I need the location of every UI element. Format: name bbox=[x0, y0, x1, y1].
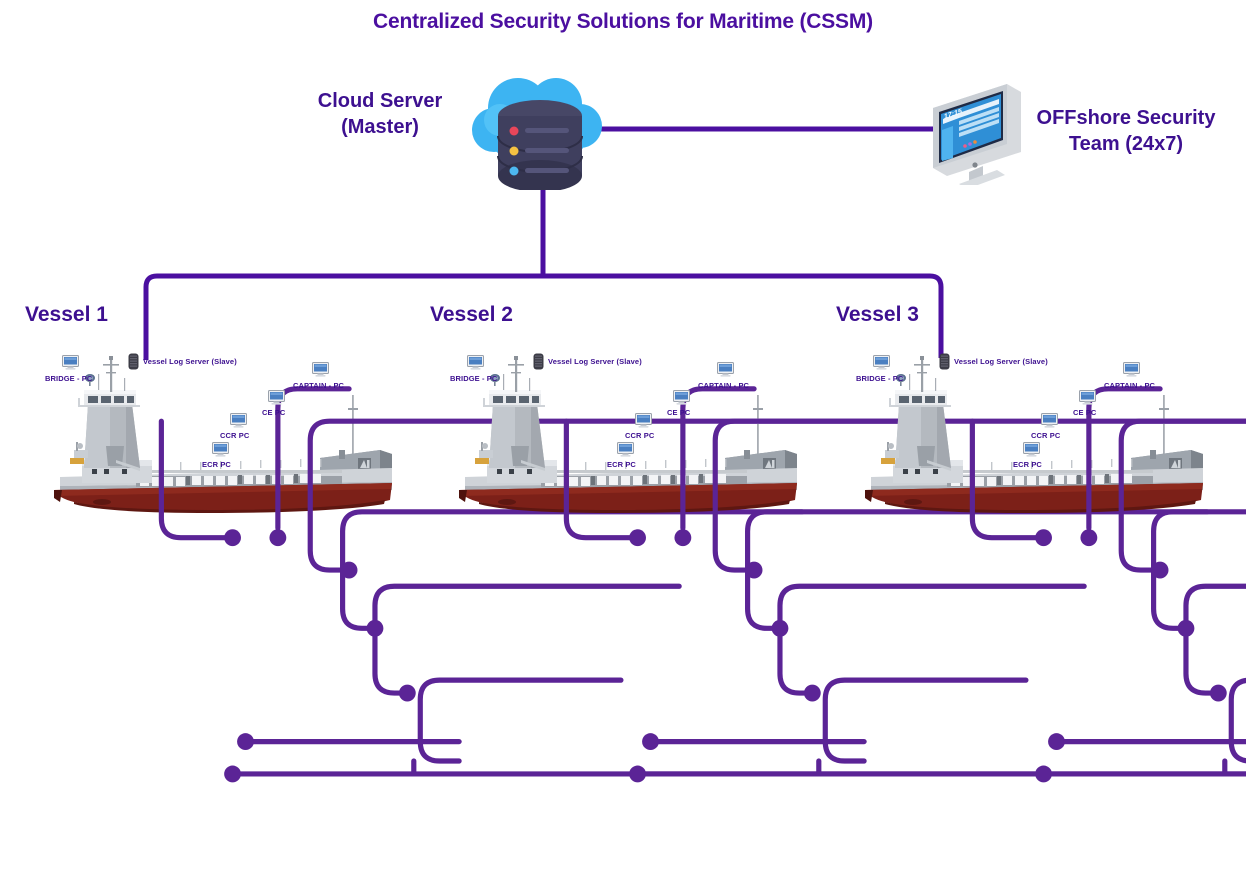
vessel-title-2: Vessel 2 bbox=[430, 303, 513, 327]
desktop-monitor-icon: 17:15 bbox=[925, 80, 1025, 185]
page-title: Centralized Security Solutions for Marit… bbox=[0, 10, 1246, 34]
pc-monitor-icon bbox=[467, 355, 484, 370]
cloud-server-label: Cloud Server (Master) bbox=[300, 89, 460, 140]
node-label-ce-pc: CE PC bbox=[262, 408, 285, 417]
vessel-title-3: Vessel 3 bbox=[836, 303, 919, 327]
diagram-canvas: Centralized Security Solutions for Marit… bbox=[0, 0, 1246, 534]
pc-monitor-icon bbox=[873, 355, 890, 370]
node-label-captain-pc: CAPTAIN - PC bbox=[1104, 381, 1155, 390]
node-label-ecr-pc: ECR PC bbox=[202, 460, 231, 469]
node-label-bridge-pc: BRIDGE - PC bbox=[856, 374, 903, 383]
rack-server-icon bbox=[939, 353, 950, 370]
node-label-ccr-pc: CCR PC bbox=[625, 431, 654, 440]
node-label-vessel-log-server: Vessel Log Server (Slave) bbox=[954, 357, 1048, 366]
pc-monitor-icon bbox=[617, 442, 634, 457]
pc-monitor-icon bbox=[673, 390, 690, 405]
pc-monitor-icon bbox=[212, 442, 229, 457]
vessel-title-1: Vessel 1 bbox=[25, 303, 108, 327]
pc-monitor-icon bbox=[717, 362, 734, 377]
pc-monitor-icon bbox=[312, 362, 329, 377]
vessel-group-3: BRIDGE - PC Vessel Log Server (Slave) CA… bbox=[851, 350, 1221, 515]
node-label-ce-pc: CE PC bbox=[667, 408, 690, 417]
pc-monitor-icon bbox=[1079, 390, 1096, 405]
node-label-ccr-pc: CCR PC bbox=[1031, 431, 1060, 440]
node-label-ce-pc: CE PC bbox=[1073, 408, 1096, 417]
node-label-vessel-log-server: Vessel Log Server (Slave) bbox=[143, 357, 237, 366]
vessel-group-2: BRIDGE - PC Vessel Log Server (Slave) CA… bbox=[445, 350, 815, 515]
vessel-group-1: BRIDGE - PC Vessel Log Server (Slave) CA… bbox=[40, 350, 410, 515]
pc-monitor-icon bbox=[230, 413, 247, 428]
node-label-captain-pc: CAPTAIN - PC bbox=[293, 381, 344, 390]
rack-server-icon bbox=[128, 353, 139, 370]
pc-monitor-icon bbox=[62, 355, 79, 370]
node-label-ecr-pc: ECR PC bbox=[1013, 460, 1042, 469]
node-label-bridge-pc: BRIDGE - PC bbox=[450, 374, 497, 383]
cloud-database-icon bbox=[470, 68, 610, 190]
node-label-bridge-pc: BRIDGE - PC bbox=[45, 374, 92, 383]
offshore-security-team-label: OFFshore Security Team (24x7) bbox=[1015, 106, 1237, 157]
node-label-ecr-pc: ECR PC bbox=[607, 460, 636, 469]
pc-monitor-icon bbox=[1023, 442, 1040, 457]
pc-monitor-icon bbox=[1123, 362, 1140, 377]
pc-monitor-icon bbox=[268, 390, 285, 405]
node-label-captain-pc: CAPTAIN - PC bbox=[698, 381, 749, 390]
pc-monitor-icon bbox=[635, 413, 652, 428]
node-label-ccr-pc: CCR PC bbox=[220, 431, 249, 440]
node-label-vessel-log-server: Vessel Log Server (Slave) bbox=[548, 357, 642, 366]
rack-server-icon bbox=[533, 353, 544, 370]
pc-monitor-icon bbox=[1041, 413, 1058, 428]
